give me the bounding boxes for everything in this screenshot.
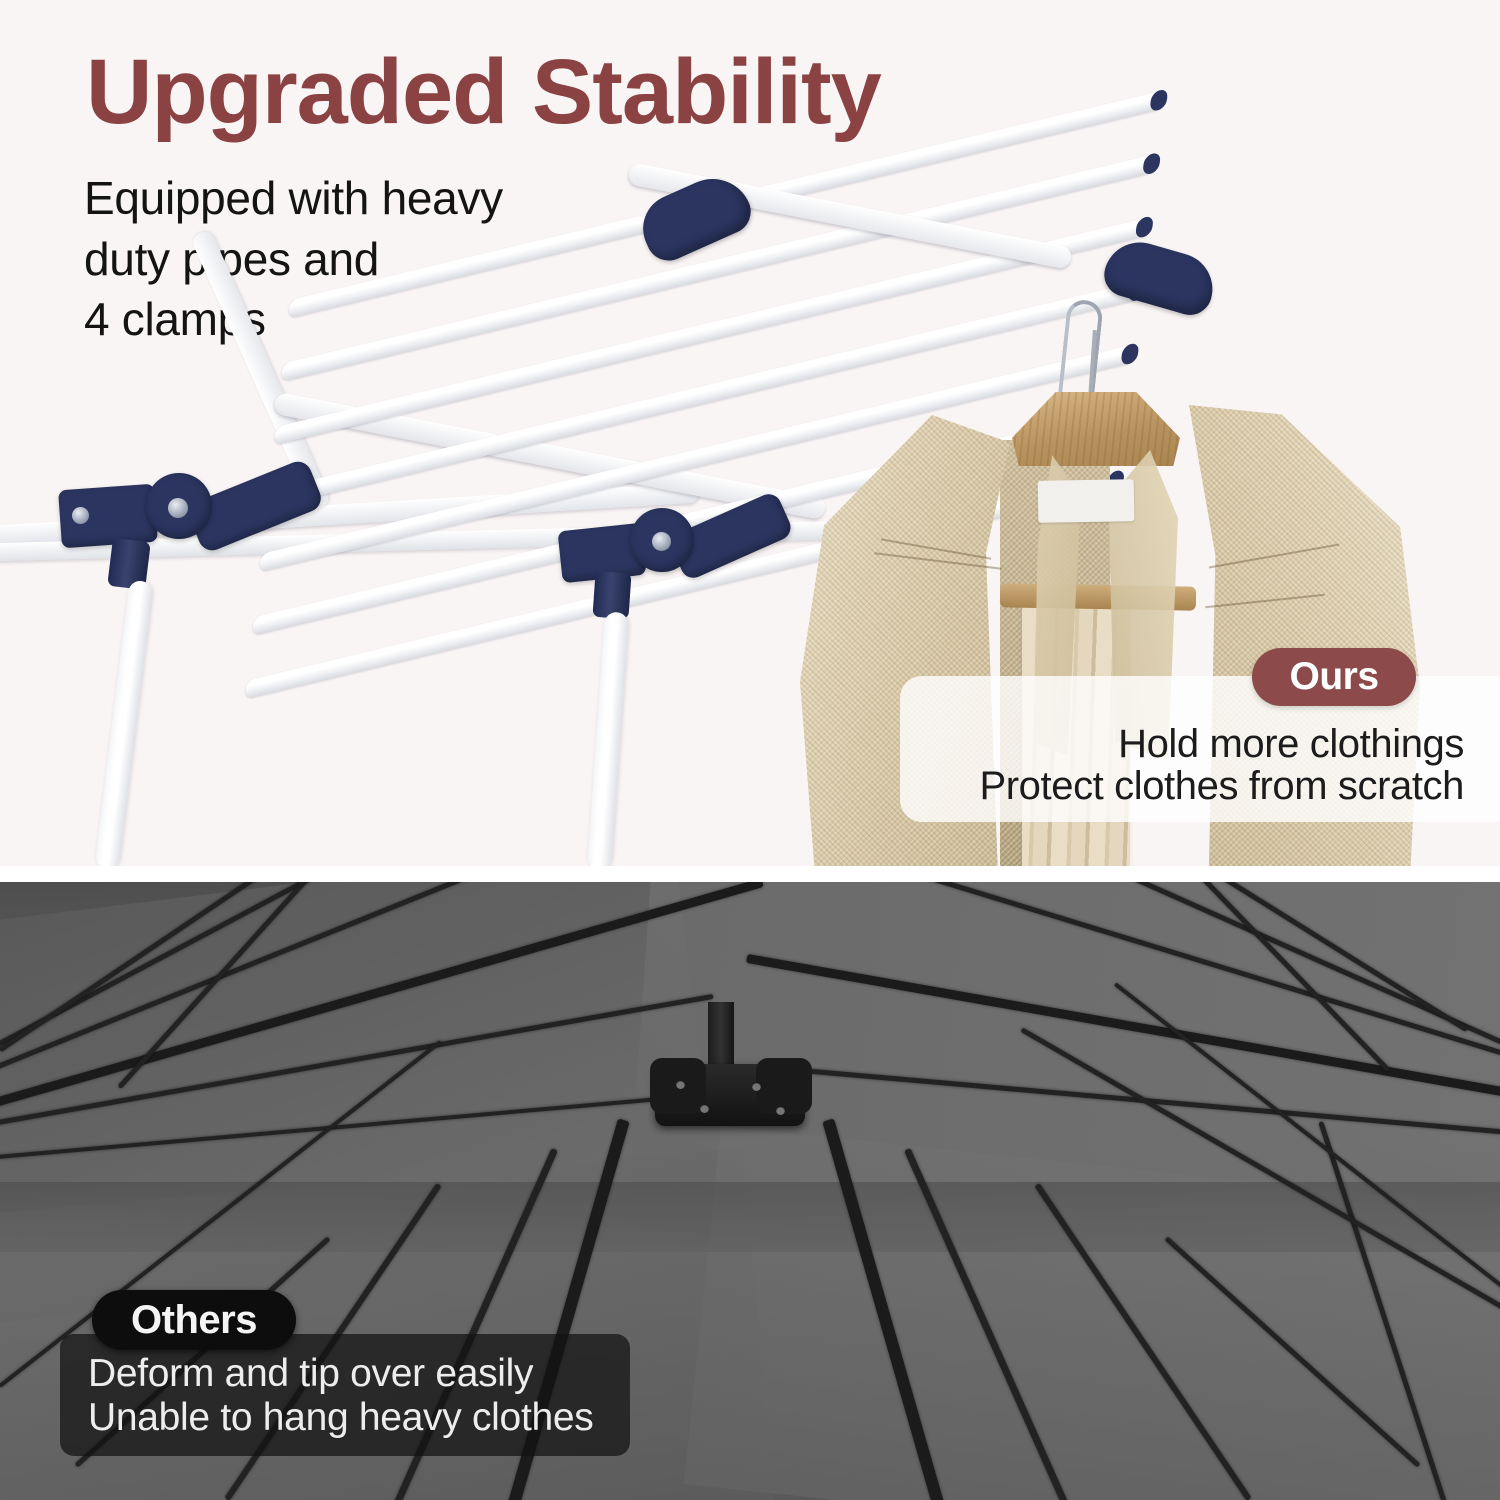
hub-bolt xyxy=(700,1104,709,1113)
ours-badge-label: Ours xyxy=(1289,655,1378,699)
status-badge-others: Others xyxy=(92,1290,296,1350)
hub-bolt xyxy=(676,1080,685,1089)
status-badge-ours: Ours xyxy=(1252,648,1416,706)
others-drawback-line-1: Deform and tip over easily xyxy=(88,1352,533,1396)
panel-divider xyxy=(0,866,1500,882)
clamp-screw-right-pivot xyxy=(652,532,671,551)
clamp-screw-left-pivot xyxy=(168,498,188,518)
hub-bolt xyxy=(776,1106,785,1115)
comparison-others-panel: Others Deform and tip over easily Unable… xyxy=(0,882,1500,1500)
hub-bolt xyxy=(752,1082,761,1091)
others-badge-label: Others xyxy=(131,1298,257,1343)
background-floor-band xyxy=(0,1182,1500,1252)
ours-benefit-line-1: Hold more clothings xyxy=(0,722,1464,767)
garment-care-label xyxy=(1038,479,1135,523)
comparison-ours-panel: Upgraded Stability Equipped with heavy d… xyxy=(0,0,1500,866)
clamp-screw-left-outer xyxy=(72,507,89,524)
ours-benefit-line-2: Protect clothes from scratch xyxy=(0,764,1464,809)
hub-bracket-right xyxy=(756,1058,812,1114)
others-drawback-line-2: Unable to hang heavy clothes xyxy=(88,1396,593,1440)
